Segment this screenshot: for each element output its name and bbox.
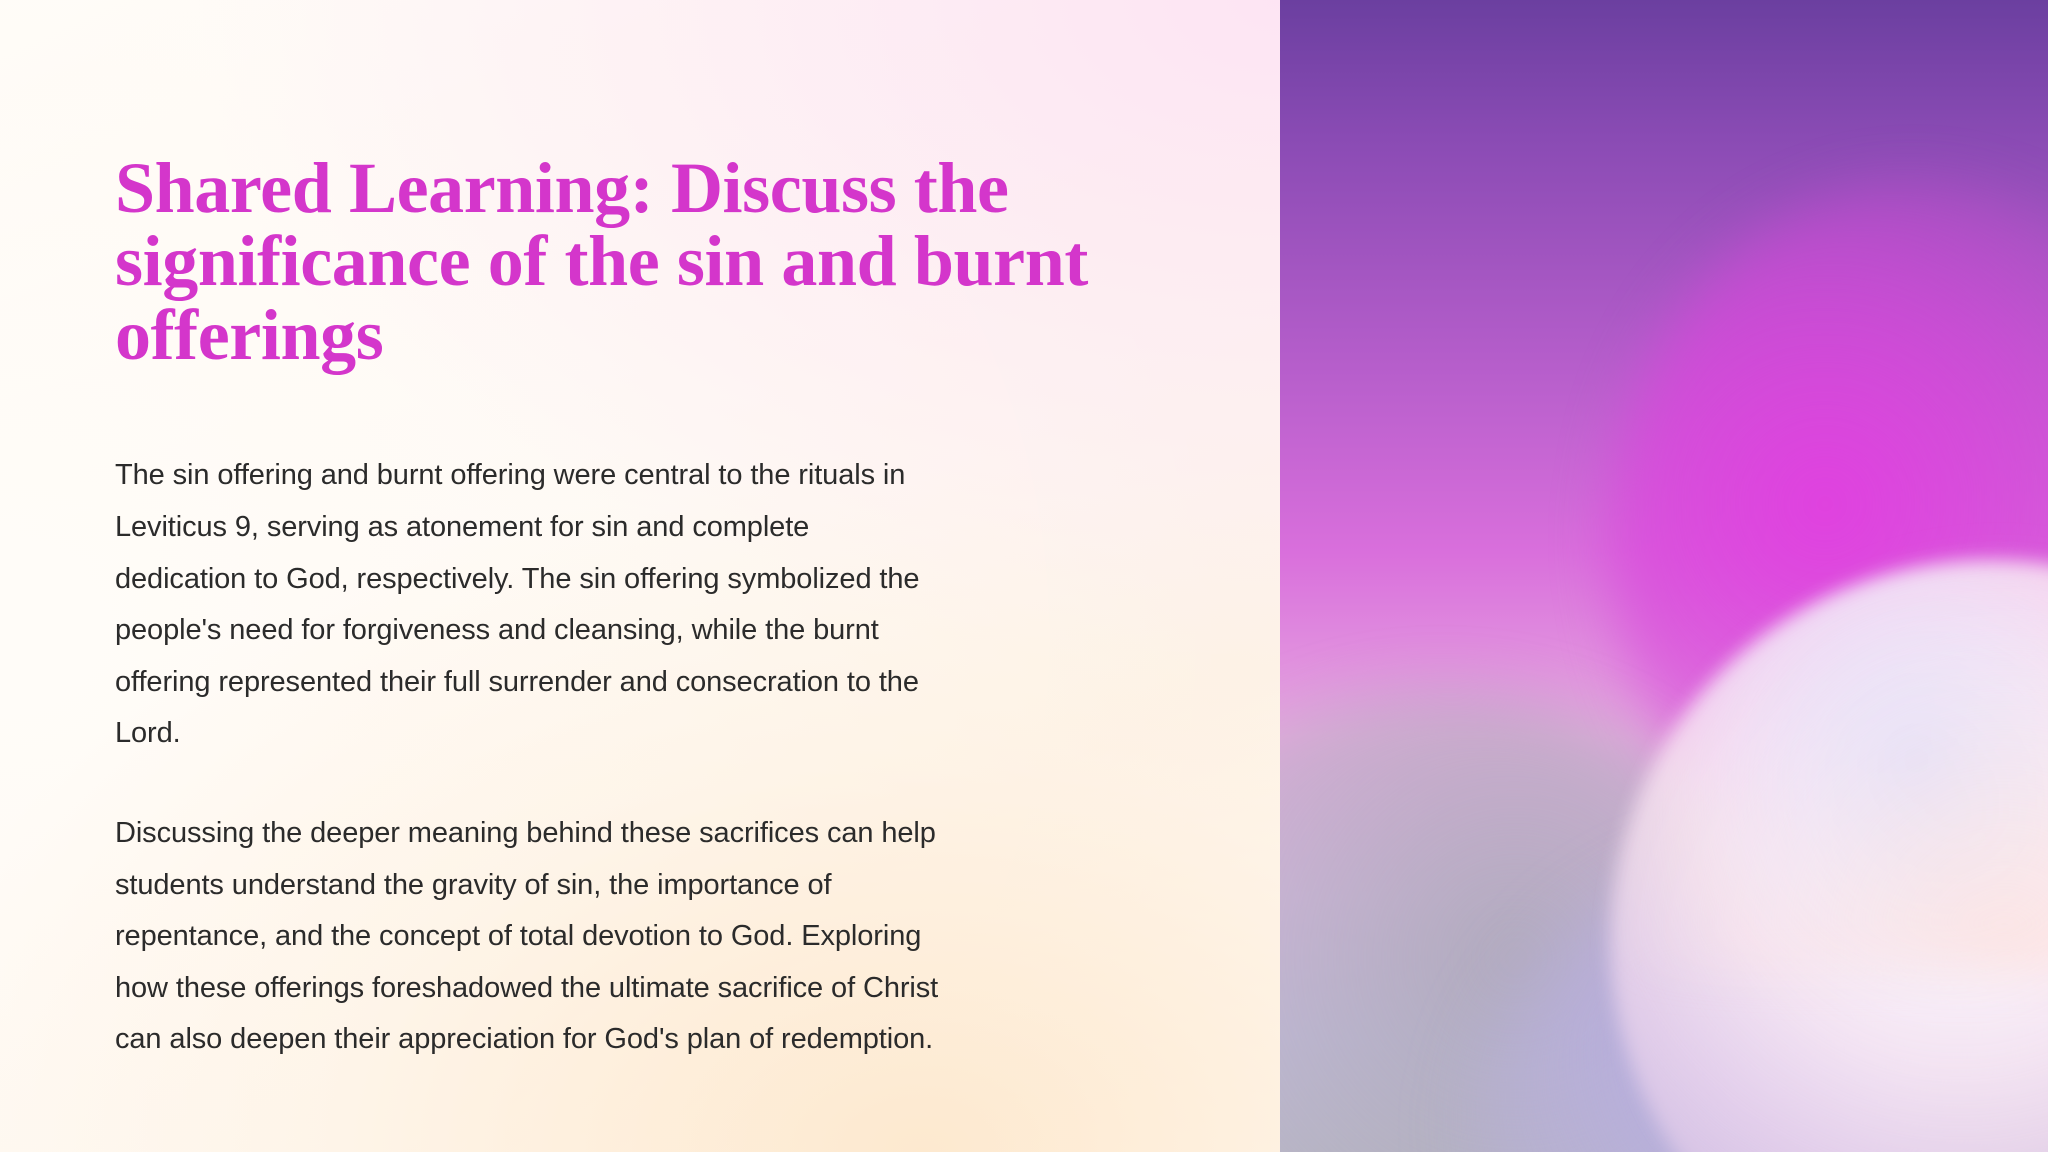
violet-haze-icon — [1468, 852, 2048, 1152]
content-inner: Shared Learning: Discuss the significanc… — [0, 0, 1280, 1066]
magenta-glow-icon — [1608, 180, 2048, 900]
page-title: Shared Learning: Discuss the significanc… — [115, 0, 1115, 372]
content-panel: Shared Learning: Discuss the significanc… — [0, 0, 1280, 1152]
body-paragraph-2: Discussing the deeper meaning behind the… — [115, 808, 945, 1066]
body-text-block: The sin offering and burnt offering were… — [115, 450, 945, 1066]
grey-haze-icon — [1280, 692, 1820, 1152]
sphere-rim-light-icon — [1620, 552, 2048, 972]
glowing-sphere-icon — [1610, 560, 2048, 1152]
slide-root: Shared Learning: Discuss the significanc… — [0, 0, 2048, 1152]
body-paragraph-1: The sin offering and burnt offering were… — [115, 450, 945, 760]
decorative-gradient-panel — [1280, 0, 2048, 1152]
